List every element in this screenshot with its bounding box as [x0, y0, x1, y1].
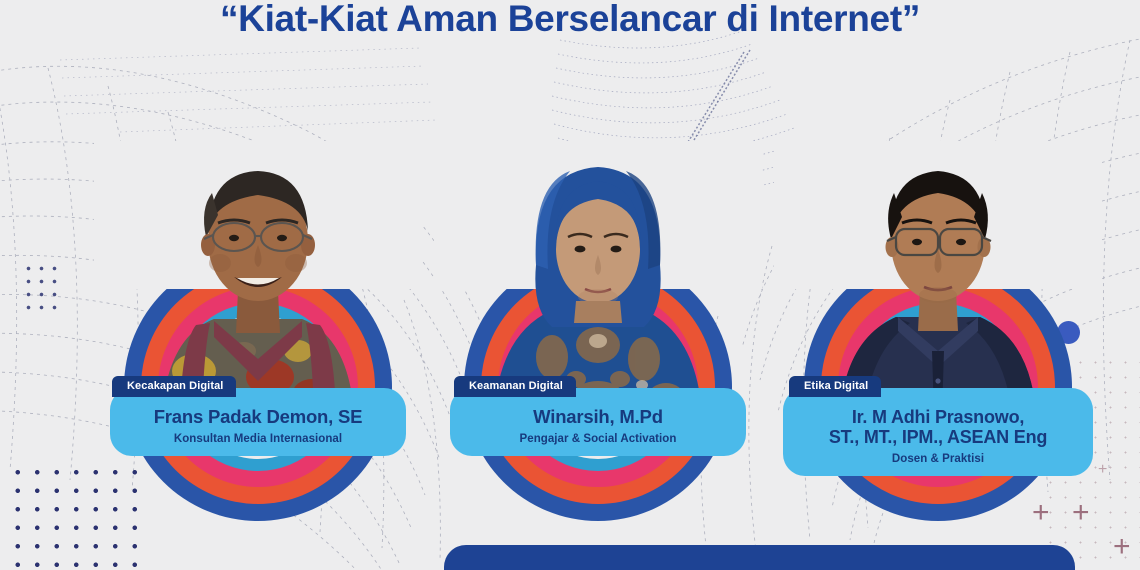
speakers-section: Kecakapan Digital Frans Padak Demon, SE …: [0, 0, 1140, 570]
speaker-badge-3: Etika Digital: [789, 376, 881, 397]
speaker-info-card-1: Kecakapan Digital Frans Padak Demon, SE …: [110, 388, 406, 456]
speaker-info-card-3: Etika Digital Ir. M Adhi Prasnowo, ST., …: [783, 388, 1093, 476]
speaker-badge-2: Keamanan Digital: [454, 376, 576, 397]
speaker-name-3-line2: ST., MT., IPM., ASEAN Eng: [829, 427, 1047, 447]
bottom-bar: [444, 545, 1075, 570]
speaker-role-1: Konsultan Media Internasional: [120, 433, 396, 445]
speaker-photo-1: [152, 145, 364, 413]
speaker-badge-1: Kecakapan Digital: [112, 376, 236, 397]
speaker-photo-3: [832, 145, 1044, 413]
speaker-role-3: Dosen & Praktisi: [793, 453, 1083, 465]
speaker-name-2: Winarsih, M.Pd: [460, 407, 736, 428]
speaker-info-card-2: Keamanan Digital Winarsih, M.Pd Pengajar…: [450, 388, 746, 456]
speaker-card-2: Keamanan Digital Winarsih, M.Pd Pengajar…: [428, 145, 768, 545]
speaker-name-3-line1: Ir. M Adhi Prasnowo,: [852, 407, 1024, 427]
speaker-name-3: Ir. M Adhi Prasnowo, ST., MT., IPM., ASE…: [793, 407, 1083, 448]
speaker-name-1: Frans Padak Demon, SE: [120, 407, 396, 428]
speaker-card-1: Kecakapan Digital Frans Padak Demon, SE …: [88, 145, 428, 545]
speaker-photo-2: [492, 145, 704, 413]
speaker-role-2: Pengajar & Social Activation: [460, 433, 736, 445]
speaker-card-3: Etika Digital Ir. M Adhi Prasnowo, ST., …: [768, 145, 1108, 545]
